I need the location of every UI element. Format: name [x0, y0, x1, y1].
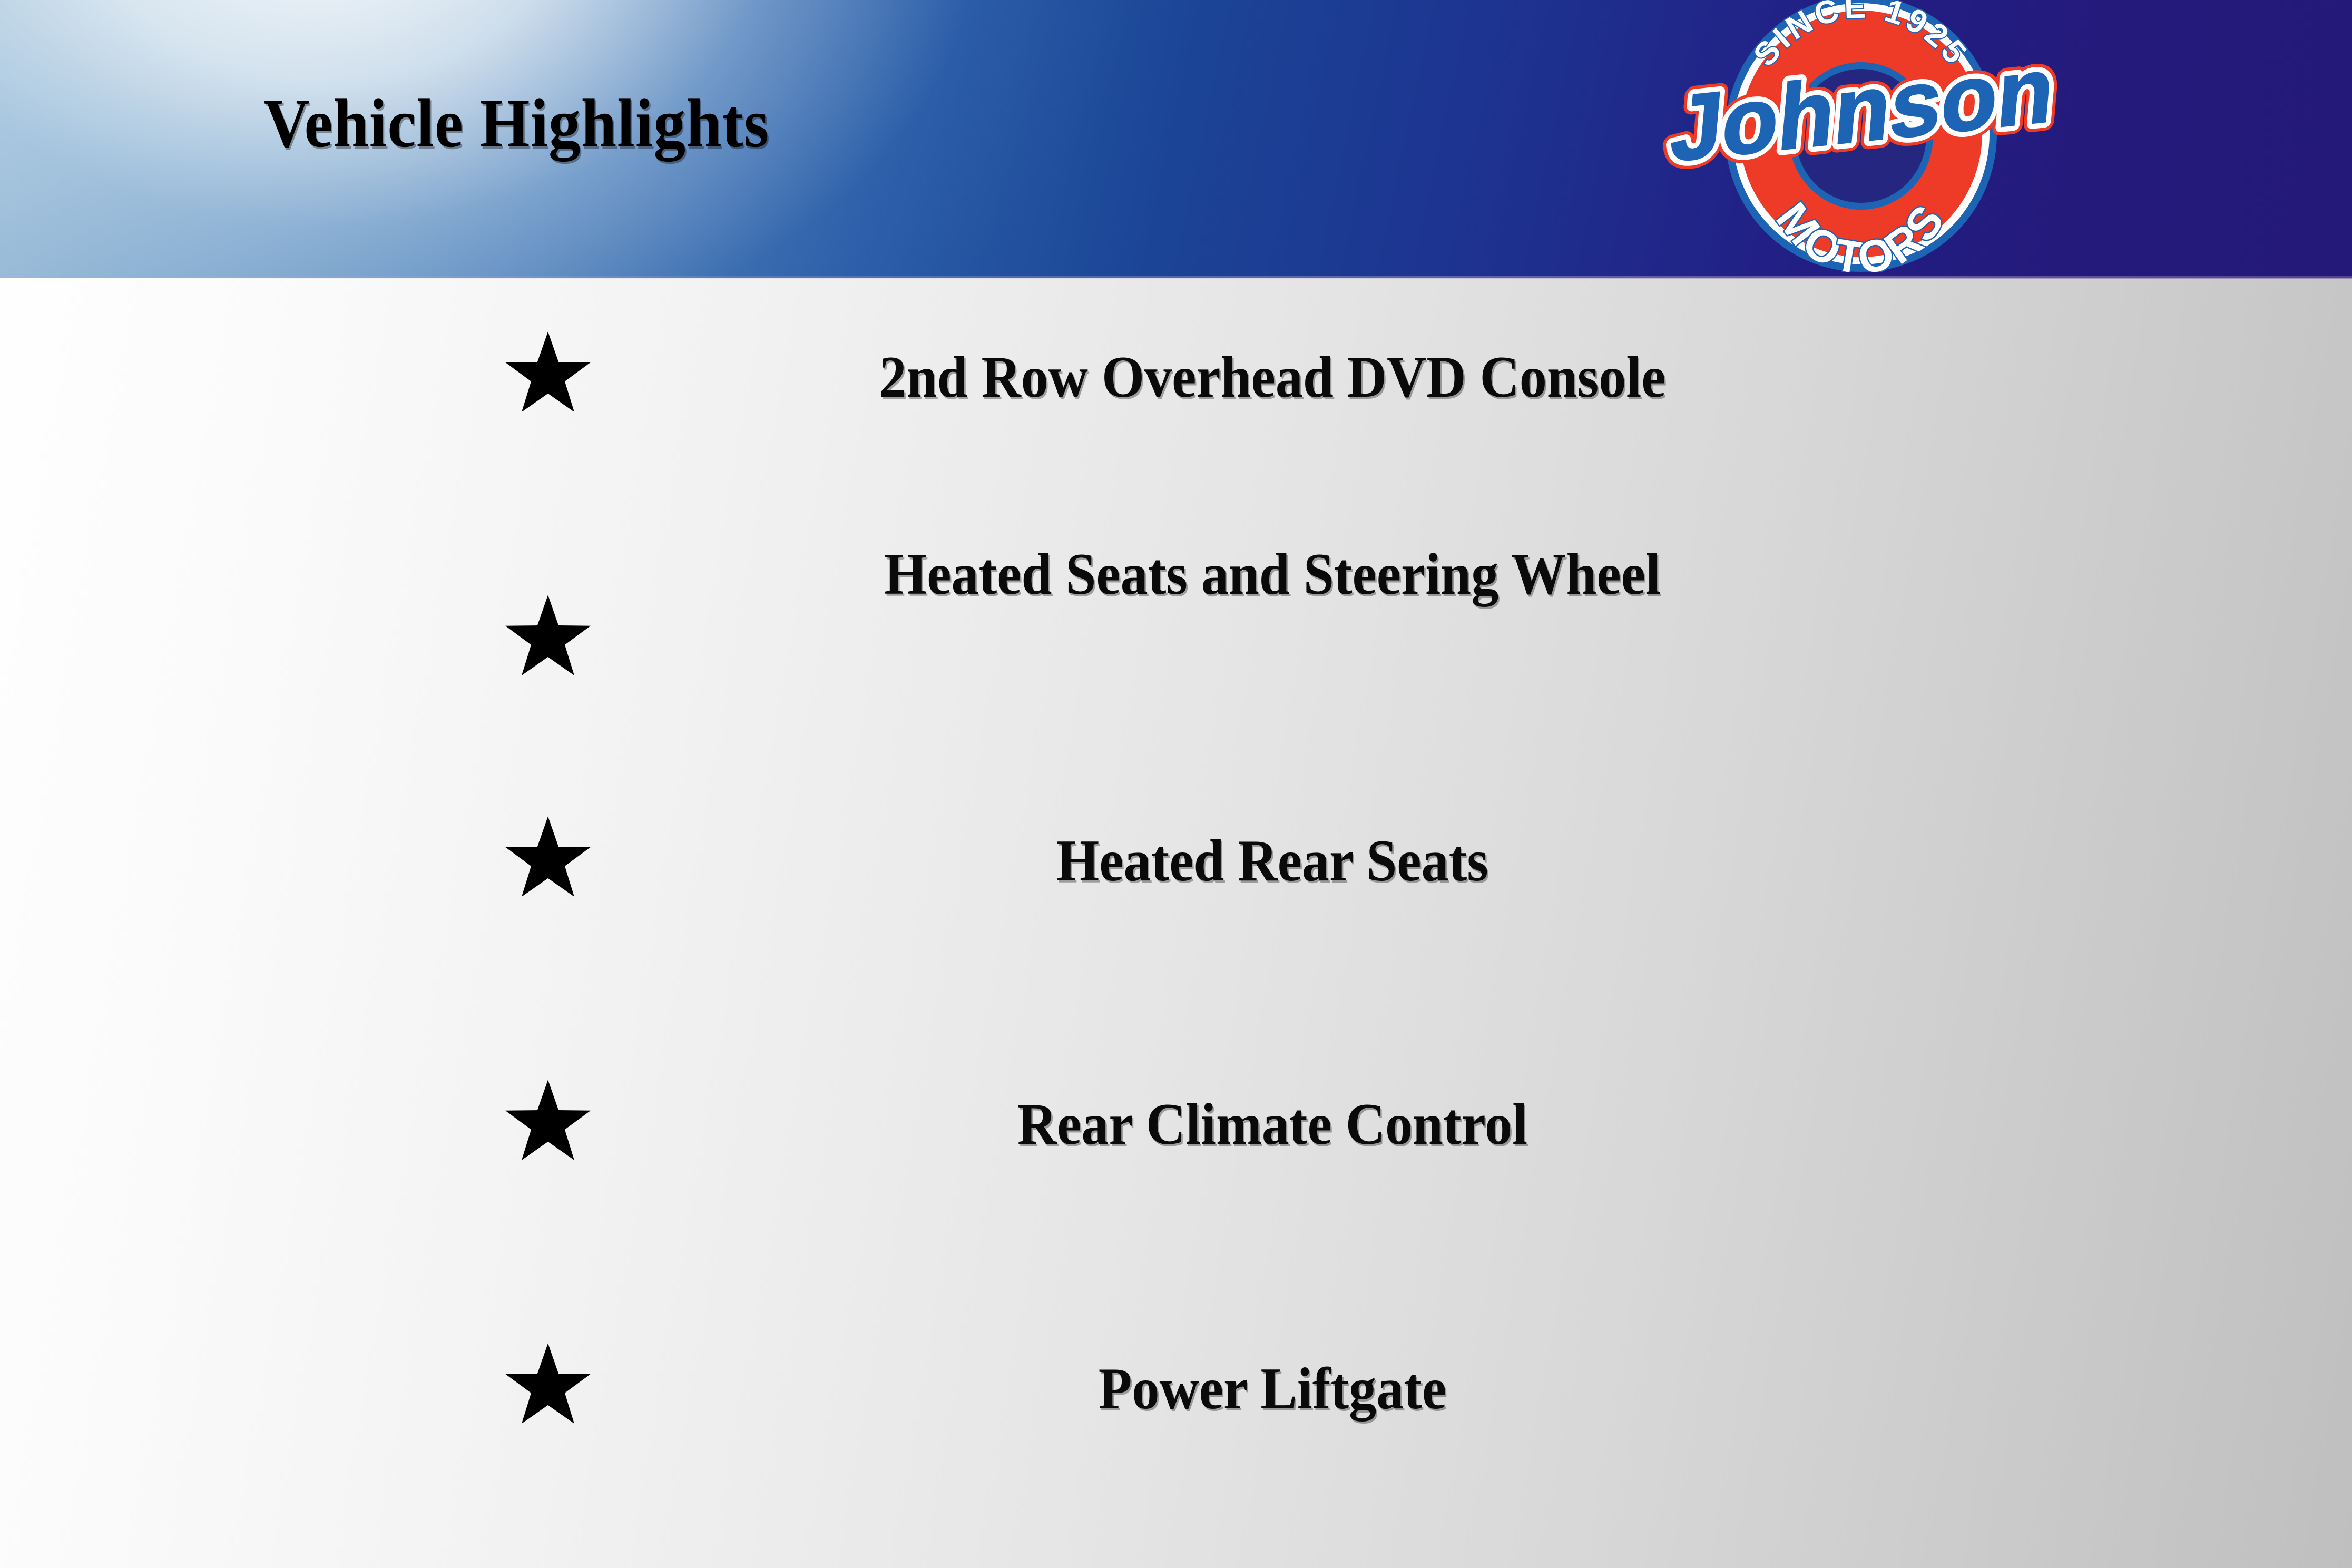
list-item-label: Rear Climate Control: [667, 1090, 1877, 1159]
star-icon: [503, 1078, 593, 1168]
list-item-label: Heated Seats and Steering Wheel: [667, 540, 1877, 609]
star-icon: [503, 330, 593, 419]
star-icon: [503, 1341, 593, 1431]
star-icon: [503, 593, 593, 683]
list-item-label: Power Liftgate: [667, 1354, 1877, 1424]
list-item-label: Heated Rear Seats: [667, 826, 1877, 896]
svg-text:Johnson: Johnson: [1667, 37, 2058, 181]
slide-canvas: Vehicle Highlights SINCE 1925 MO: [0, 0, 2352, 1568]
logo-wordmark: Johnson Johnson Johnson: [1667, 37, 2058, 181]
highlights-list: 2nd Row Overhead DVD Console Heated Seat…: [0, 278, 2352, 1568]
star-icon: [503, 815, 593, 904]
page-title: Vehicle Highlights: [263, 89, 769, 158]
list-item-label: 2nd Row Overhead DVD Console: [667, 342, 1877, 412]
johnson-motors-logo: SINCE 1925 MOTORS Johnson Johnson Johnso…: [1661, 0, 2061, 272]
